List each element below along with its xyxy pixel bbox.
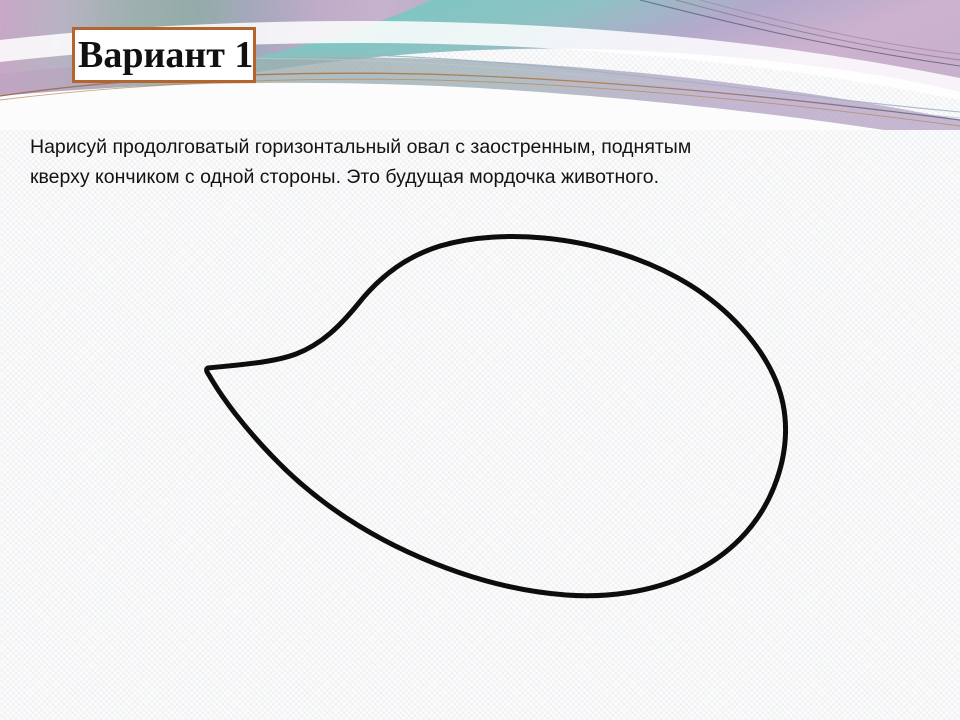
drawing-area: [0, 200, 960, 620]
page-title: Вариант 1: [78, 28, 328, 82]
instruction-line-2: кверху кончиком с одной стороны. Это буд…: [30, 162, 890, 192]
animal-muzzle-outline-icon: [207, 237, 786, 596]
instruction-line-1: Нарисуй продолговатый горизонтальный ова…: [30, 132, 890, 162]
instruction-text: Нарисуй продолговатый горизонтальный ова…: [30, 132, 890, 192]
slide-canvas: Вариант 1 Нарисуй продолговатый горизонт…: [0, 0, 960, 720]
